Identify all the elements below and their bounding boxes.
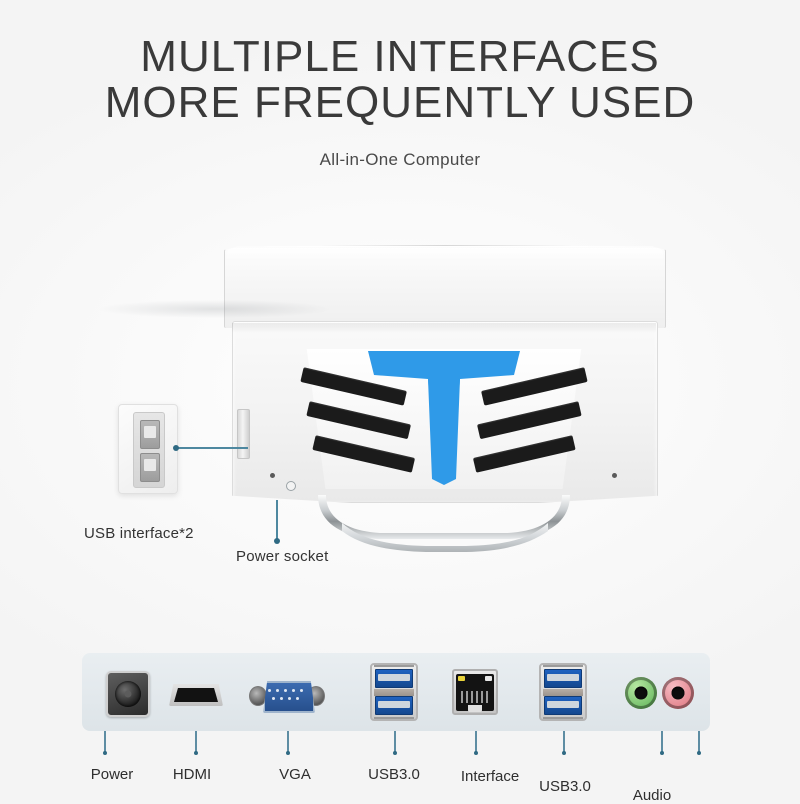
product-infographic: MULTIPLE INTERFACES MORE FREQUENTLY USED… — [0, 0, 800, 800]
dc-jack-pin — [125, 691, 132, 698]
rj45-contacts — [461, 691, 489, 703]
io-leader-cap — [697, 751, 701, 755]
port-hdmi-icon — [169, 684, 223, 706]
usb-callout-label: USB interface*2 — [84, 525, 194, 542]
usb3-right-socket-bottom — [544, 696, 582, 715]
usb3-right-divider — [543, 689, 583, 696]
port-power-dc-jack-icon — [106, 671, 150, 717]
io-label-vga: VGA — [279, 766, 311, 783]
usb3-right-socket-top — [544, 669, 582, 688]
io-label-interface: Interface — [461, 768, 519, 785]
port-usb3-dual-left-icon — [370, 663, 418, 721]
usb3-right-top-tab — [543, 665, 583, 667]
io-label-audio: Audio — [633, 787, 671, 804]
io-label-power: Power — [91, 766, 134, 783]
display-gloss-highlight — [227, 248, 663, 260]
usb3-right-bottom-tab — [543, 717, 583, 719]
headline-line-1: MULTIPLE INTERFACES — [140, 32, 659, 81]
chassis-seam — [232, 323, 656, 333]
rj45-led-white — [485, 676, 492, 681]
power-socket-callout-label: Power socket — [236, 548, 328, 565]
port-rj45-ethernet-icon — [452, 669, 498, 715]
usb-slot-bottom-icon — [140, 453, 160, 482]
io-leader-cap — [286, 751, 290, 755]
power-socket-leader-line — [276, 500, 278, 542]
usb3-left-bottom-tab — [374, 717, 414, 719]
io-leader-audio — [661, 731, 663, 753]
rj45-notch — [468, 705, 482, 712]
io-label-usb30-2: USB3.0 — [539, 778, 591, 795]
chassis-screw-right — [612, 473, 617, 478]
usb-slot-top-icon — [140, 420, 160, 449]
page-subtitle: All-in-One Computer — [0, 150, 800, 170]
usb-callout-leader-line — [176, 447, 248, 449]
usb-inset-body — [133, 412, 165, 488]
io-leader-cap — [393, 751, 397, 755]
usb3-left-top-tab — [374, 665, 414, 667]
port-audio-line-out-icon — [625, 677, 657, 709]
power-socket-hole — [286, 481, 296, 491]
io-leader-cap — [660, 751, 664, 755]
io-leader-vga — [287, 731, 289, 753]
io-leader-hdmi — [195, 731, 197, 753]
mic-in-hole — [672, 687, 685, 700]
side-usb-ports — [237, 409, 250, 459]
io-leader-usb30-1 — [394, 731, 396, 753]
usb-callout-leader-dot — [173, 445, 179, 451]
io-leader-cap — [103, 751, 107, 755]
page-title: MULTIPLE INTERFACES MORE FREQUENTLY USED — [0, 34, 800, 126]
io-leader-usb30-2 — [563, 731, 565, 753]
usb-port-zoom-inset — [118, 404, 178, 494]
vent-assembly — [288, 345, 600, 490]
io-label-hdmi: HDMI — [173, 766, 211, 783]
power-socket-leader-dot — [274, 538, 280, 544]
io-port-panel — [82, 653, 710, 731]
watermark — [470, 530, 560, 566]
line-out-hole — [635, 687, 648, 700]
usb3-left-socket-top — [375, 669, 413, 688]
vent-slats-right — [288, 345, 600, 490]
vga-screw-left — [249, 686, 267, 706]
io-leader-interface — [475, 731, 477, 753]
io-leader-cap — [194, 751, 198, 755]
vga-pins — [267, 688, 307, 703]
io-leader-cap — [562, 751, 566, 755]
io-leader-audio-mic — [698, 731, 700, 753]
io-leader-cap — [474, 751, 478, 755]
port-usb3-dual-right-icon — [539, 663, 587, 721]
io-label-usb30-1: USB3.0 — [368, 766, 420, 783]
port-vga-icon — [249, 681, 325, 709]
rj45-led-yellow — [458, 676, 465, 681]
io-leader-power — [104, 731, 106, 753]
usb3-left-divider — [374, 689, 414, 696]
port-audio-mic-in-icon — [662, 677, 694, 709]
product-shadow — [100, 300, 330, 318]
headline-line-2: MORE FREQUENTLY USED — [0, 80, 800, 126]
hdmi-mouth — [174, 688, 218, 702]
all-in-one-computer — [232, 245, 656, 515]
chassis-screw-left — [270, 473, 275, 478]
usb3-left-socket-bottom — [375, 696, 413, 715]
